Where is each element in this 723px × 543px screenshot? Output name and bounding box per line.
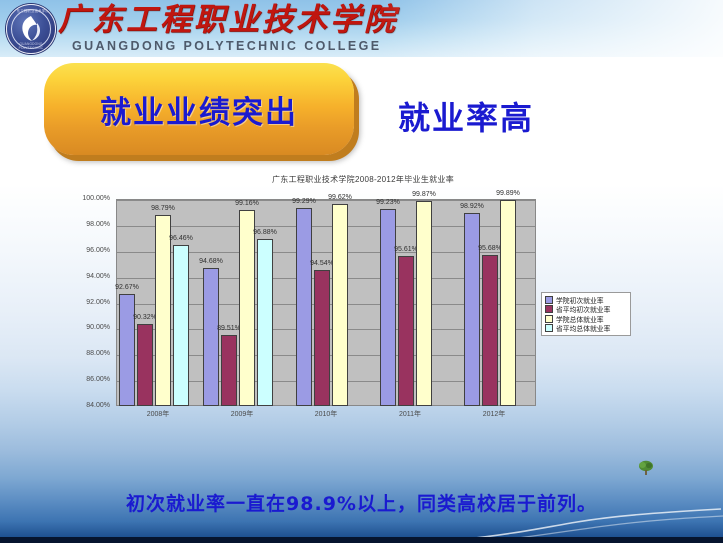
chart-legend-swatch <box>545 296 553 304</box>
chart-value-label: 99.89% <box>496 190 520 197</box>
chart-legend-item: 省平均总体就业率 <box>545 324 627 334</box>
chart-bar <box>173 245 189 406</box>
chart-bar <box>314 270 330 406</box>
chart-bar <box>257 239 273 406</box>
chart-y-tick-label: 84.00% <box>50 402 110 409</box>
chart-bar <box>416 201 432 406</box>
chart-y-tick-label: 94.00% <box>50 273 110 280</box>
chart-bar <box>221 335 237 406</box>
chart-y-tick-label: 88.00% <box>50 350 110 357</box>
chart-bar-group: 99.29%94.54%99.62% <box>296 199 348 406</box>
chart-value-label: 98.79% <box>151 205 175 212</box>
chart-value-label: 99.62% <box>328 194 352 201</box>
tree-icon <box>636 458 656 478</box>
chart-y-tick-label: 86.00% <box>50 376 110 383</box>
chart-legend-swatch <box>545 305 553 313</box>
chart-legend-item: 学院初次就业率 <box>545 295 627 305</box>
chart-y-tick-label: 96.00% <box>50 247 110 254</box>
chart-bar-group: 92.67%90.32%98.79%96.46% <box>119 199 189 406</box>
headline-pill-button[interactable]: 就业业绩突出 <box>44 63 354 155</box>
chart-value-label: 99.16% <box>235 200 259 207</box>
chart-x-tick-label: 2011年 <box>399 409 421 419</box>
college-crest-logo: 广东工程职业技术学院 GUANGDONG POLYTECHNIC <box>6 4 56 54</box>
chart-bar <box>203 268 219 406</box>
chart-legend-swatch <box>545 315 553 323</box>
college-name-en: GUANGDONG POLYTECHNIC COLLEGE <box>72 38 381 54</box>
chart-legend-label: 省平均总体就业率 <box>556 323 610 333</box>
chart-bar <box>239 210 255 406</box>
crest-top-text: 广东工程职业技术学院 <box>7 8 55 13</box>
chart-value-label: 98.92% <box>460 203 484 210</box>
chart-y-tick-label: 98.00% <box>50 221 110 228</box>
chart-plot-wrapper: 100.00%98.00%96.00%94.00%92.00%90.00%88.… <box>116 199 536 406</box>
chart-x-tick-label: 2010年 <box>315 409 338 419</box>
chart-y-tick-label: 90.00% <box>50 324 110 331</box>
chart-x-tick-label: 2009年 <box>231 409 254 419</box>
chart-x-tick-label: 2012年 <box>483 409 506 419</box>
headline-pill-label: 就业业绩突出 <box>44 63 354 155</box>
chart-x-tick-label: 2008年 <box>147 409 170 419</box>
chart-value-label: 99.29% <box>292 198 316 205</box>
chart-bar <box>137 324 153 406</box>
chart-bar <box>482 255 498 406</box>
chart-value-label: 95.68% <box>478 245 502 252</box>
chart-legend-item: 省平均初次就业率 <box>545 305 627 315</box>
chart-legend-item: 学院总体就业率 <box>545 314 627 324</box>
chart-bar <box>119 294 135 406</box>
chart-bar-group: 94.68%89.51%99.16%96.88% <box>203 199 273 406</box>
crest-emblem-icon <box>18 14 44 44</box>
chart-bar <box>380 209 396 406</box>
chart-legend-label: 省平均初次就业率 <box>556 304 610 314</box>
chart-y-tick-label: 100.00% <box>50 195 110 202</box>
chart-value-label: 99.23% <box>376 199 400 206</box>
chart-legend-label: 学院初次就业率 <box>556 295 604 305</box>
header-banner: 广东工程职业技术学院 GUANGDONG POLYTECHNIC 广东工程职业技… <box>0 0 723 57</box>
chart-legend-label: 学院总体就业率 <box>556 314 604 324</box>
employment-rate-chart: 广东工程职业技术学院2008-2012年毕业生就业率 100.00%98.00%… <box>83 174 643 459</box>
chart-value-label: 94.54% <box>310 260 334 267</box>
chart-value-label: 90.32% <box>133 314 157 321</box>
chart-value-label: 96.46% <box>169 235 193 242</box>
bottom-bar <box>0 537 723 543</box>
chart-value-label: 92.67% <box>115 284 139 291</box>
slide-canvas: 广东工程职业技术学院 GUANGDONG POLYTECHNIC 广东工程职业技… <box>0 0 723 543</box>
headline-secondary: 就业率高 <box>398 93 534 139</box>
crest-bottom-text: GUANGDONG POLYTECHNIC <box>7 42 55 50</box>
chart-bar-group: 99.23%95.61%99.87% <box>380 199 432 406</box>
chart-bar-group: 98.92%95.68%99.89% <box>464 199 516 406</box>
chart-bar <box>332 204 348 406</box>
chart-value-label: 95.61% <box>394 246 418 253</box>
chart-y-tick-label: 92.00% <box>50 299 110 306</box>
chart-value-label: 99.87% <box>412 191 436 198</box>
chart-bar <box>464 213 480 406</box>
chart-title: 广东工程职业技术学院2008-2012年毕业生就业率 <box>83 174 643 185</box>
chart-bar <box>296 208 312 406</box>
chart-value-label: 96.88% <box>253 229 277 236</box>
chart-legend-swatch <box>545 324 553 332</box>
chart-bar <box>500 200 516 406</box>
chart-value-label: 89.51% <box>217 325 241 332</box>
chart-bar <box>155 215 171 406</box>
chart-bar <box>398 256 414 406</box>
college-name-cn: 广东工程职业技术学院 <box>58 1 398 39</box>
chart-value-label: 94.68% <box>199 258 223 265</box>
chart-legend: 学院初次就业率省平均初次就业率学院总体就业率省平均总体就业率 <box>541 292 631 336</box>
